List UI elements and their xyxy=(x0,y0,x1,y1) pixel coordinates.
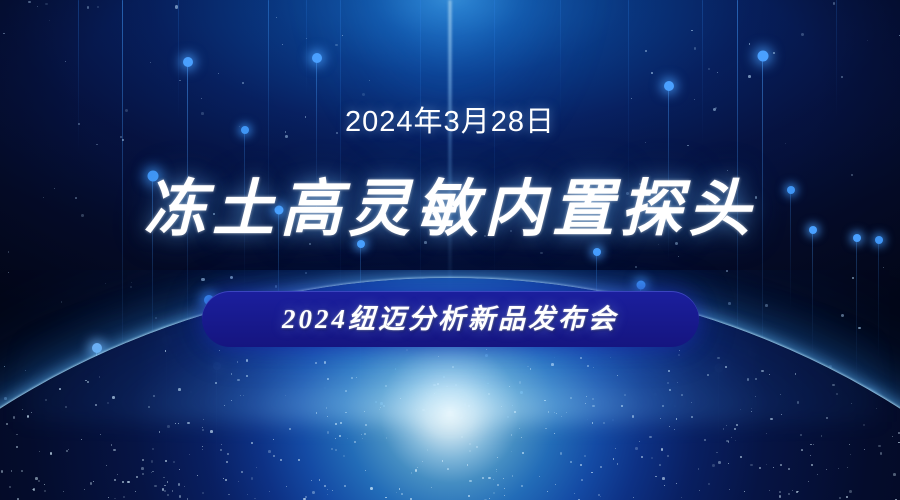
event-banner: 2024年3月28日 冻土高灵敏内置探头 2024纽迈分析新品发布会 xyxy=(0,0,900,500)
subtitle-pill: 2024纽迈分析新品发布会 xyxy=(202,291,699,347)
subtitle-label: 2024纽迈分析新品发布会 xyxy=(282,306,618,333)
banner-content: 2024年3月28日 冻土高灵敏内置探头 2024纽迈分析新品发布会 xyxy=(0,0,900,500)
page-title: 冻土高灵敏内置探头 xyxy=(144,179,756,241)
event-date: 2024年3月28日 xyxy=(345,108,555,137)
